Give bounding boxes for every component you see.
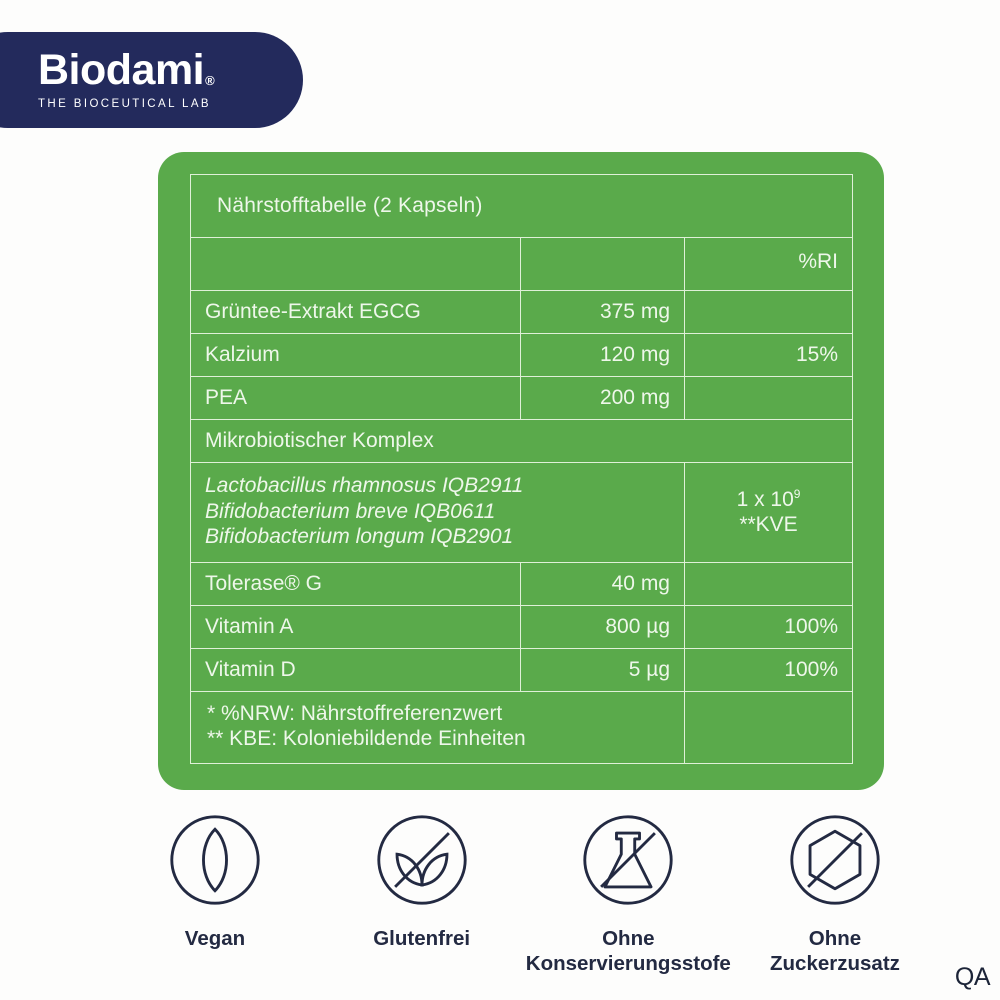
strain-list: Lactobacillus rhamnosus IQB2911 Bifidoba…	[191, 463, 685, 563]
feature-gluten-free: Glutenfrei	[327, 812, 517, 976]
footnote-list: * %NRW: Nährstoffreferenzwert ** KBE: Ko…	[191, 691, 685, 763]
row-name: Vitamin A	[191, 605, 521, 648]
row-name: Tolerase® G	[191, 562, 521, 605]
gluten-free-icon	[374, 812, 470, 908]
feature-badges: Vegan Glutenfrei Ohne Konservierungsstof…	[120, 812, 930, 976]
row-amount: 375 mg	[521, 291, 685, 334]
row-amount: 40 mg	[521, 562, 685, 605]
strain-amount-base: 1 x 10	[737, 488, 794, 511]
footnote-item: * %NRW: Nährstoffreferenzwert	[207, 701, 684, 727]
feature-no-preservatives: Ohne Konservierungsstofe	[533, 812, 723, 976]
footnote-row: * %NRW: Nährstoffreferenzwert ** KBE: Ko…	[191, 691, 853, 763]
strain-amount: 1 x 109 **KVE	[685, 463, 853, 563]
feature-vegan: Vegan	[120, 812, 310, 976]
microbiotic-strains-row: Lactobacillus rhamnosus IQB2911 Bifidoba…	[191, 463, 853, 563]
feature-label: Vegan	[185, 926, 245, 951]
table-row: Vitamin D 5 µg 100%	[191, 648, 853, 691]
feature-label: Ohne Zuckerzusatz	[770, 926, 900, 976]
row-ri	[685, 291, 853, 334]
brand-tagline: THE BIOCEUTICAL LAB	[38, 99, 303, 111]
strain-item: Bifidobacterium breve IQB0611	[205, 499, 684, 525]
table-row: Tolerase® G 40 mg	[191, 562, 853, 605]
footnote-item: ** KBE: Koloniebildende Einheiten	[207, 726, 684, 752]
row-amount: 5 µg	[521, 648, 685, 691]
no-preservatives-flask-icon	[580, 812, 676, 908]
row-amount: 800 µg	[521, 605, 685, 648]
row-name: Vitamin D	[191, 648, 521, 691]
brand-wordmark: Biodami®	[38, 49, 303, 92]
brand-logo-badge: Biodami® THE BIOCEUTICAL LAB	[0, 32, 303, 128]
row-ri: 100%	[685, 605, 853, 648]
nutrition-table-card: Nährstofftabelle (2 Kapseln) %RI Grüntee…	[158, 152, 884, 790]
row-ri	[685, 562, 853, 605]
strain-item: Bifidobacterium longum IQB2901	[205, 524, 684, 550]
no-added-sugar-icon	[787, 812, 883, 908]
nutrition-table-title: Nährstofftabelle (2 Kapseln)	[191, 175, 853, 238]
table-row: Vitamin A 800 µg 100%	[191, 605, 853, 648]
row-amount: 120 mg	[521, 334, 685, 377]
row-name: Kalzium	[191, 334, 521, 377]
row-ri: 100%	[685, 648, 853, 691]
registered-trademark-icon: ®	[205, 73, 214, 88]
header-cell-name	[191, 238, 521, 291]
watermark: QA	[955, 963, 990, 992]
strain-amount-exponent: 9	[794, 487, 801, 501]
row-ri	[685, 377, 853, 420]
table-row: PEA 200 mg	[191, 377, 853, 420]
strain-amount-unit: **KVE	[739, 513, 797, 536]
footnote-empty-cell	[685, 691, 853, 763]
header-cell-amount	[521, 238, 685, 291]
feature-label: Ohne Konservierungsstofe	[526, 926, 731, 976]
row-name: Grüntee-Extrakt EGCG	[191, 291, 521, 334]
nutrition-table-frame: Nährstofftabelle (2 Kapseln) %RI Grüntee…	[190, 174, 852, 768]
table-row: Kalzium 120 mg 15%	[191, 334, 853, 377]
feature-no-added-sugar: Ohne Zuckerzusatz	[740, 812, 930, 976]
nutrition-table: Nährstofftabelle (2 Kapseln) %RI Grüntee…	[190, 174, 853, 764]
header-cell-ri: %RI	[685, 238, 853, 291]
vegan-leaf-icon	[167, 812, 263, 908]
row-amount: 200 mg	[521, 377, 685, 420]
microbiotic-complex-heading: Mikrobiotischer Komplex	[191, 420, 853, 463]
table-title-row: Nährstofftabelle (2 Kapseln)	[191, 175, 853, 238]
table-header-row: %RI	[191, 238, 853, 291]
feature-label: Glutenfrei	[373, 926, 470, 951]
row-ri: 15%	[685, 334, 853, 377]
brand-name: Biodami	[38, 46, 204, 94]
strain-item: Lactobacillus rhamnosus IQB2911	[205, 473, 684, 499]
table-row: Grüntee-Extrakt EGCG 375 mg	[191, 291, 853, 334]
row-name: PEA	[191, 377, 521, 420]
microbiotic-complex-heading-row: Mikrobiotischer Komplex	[191, 420, 853, 463]
